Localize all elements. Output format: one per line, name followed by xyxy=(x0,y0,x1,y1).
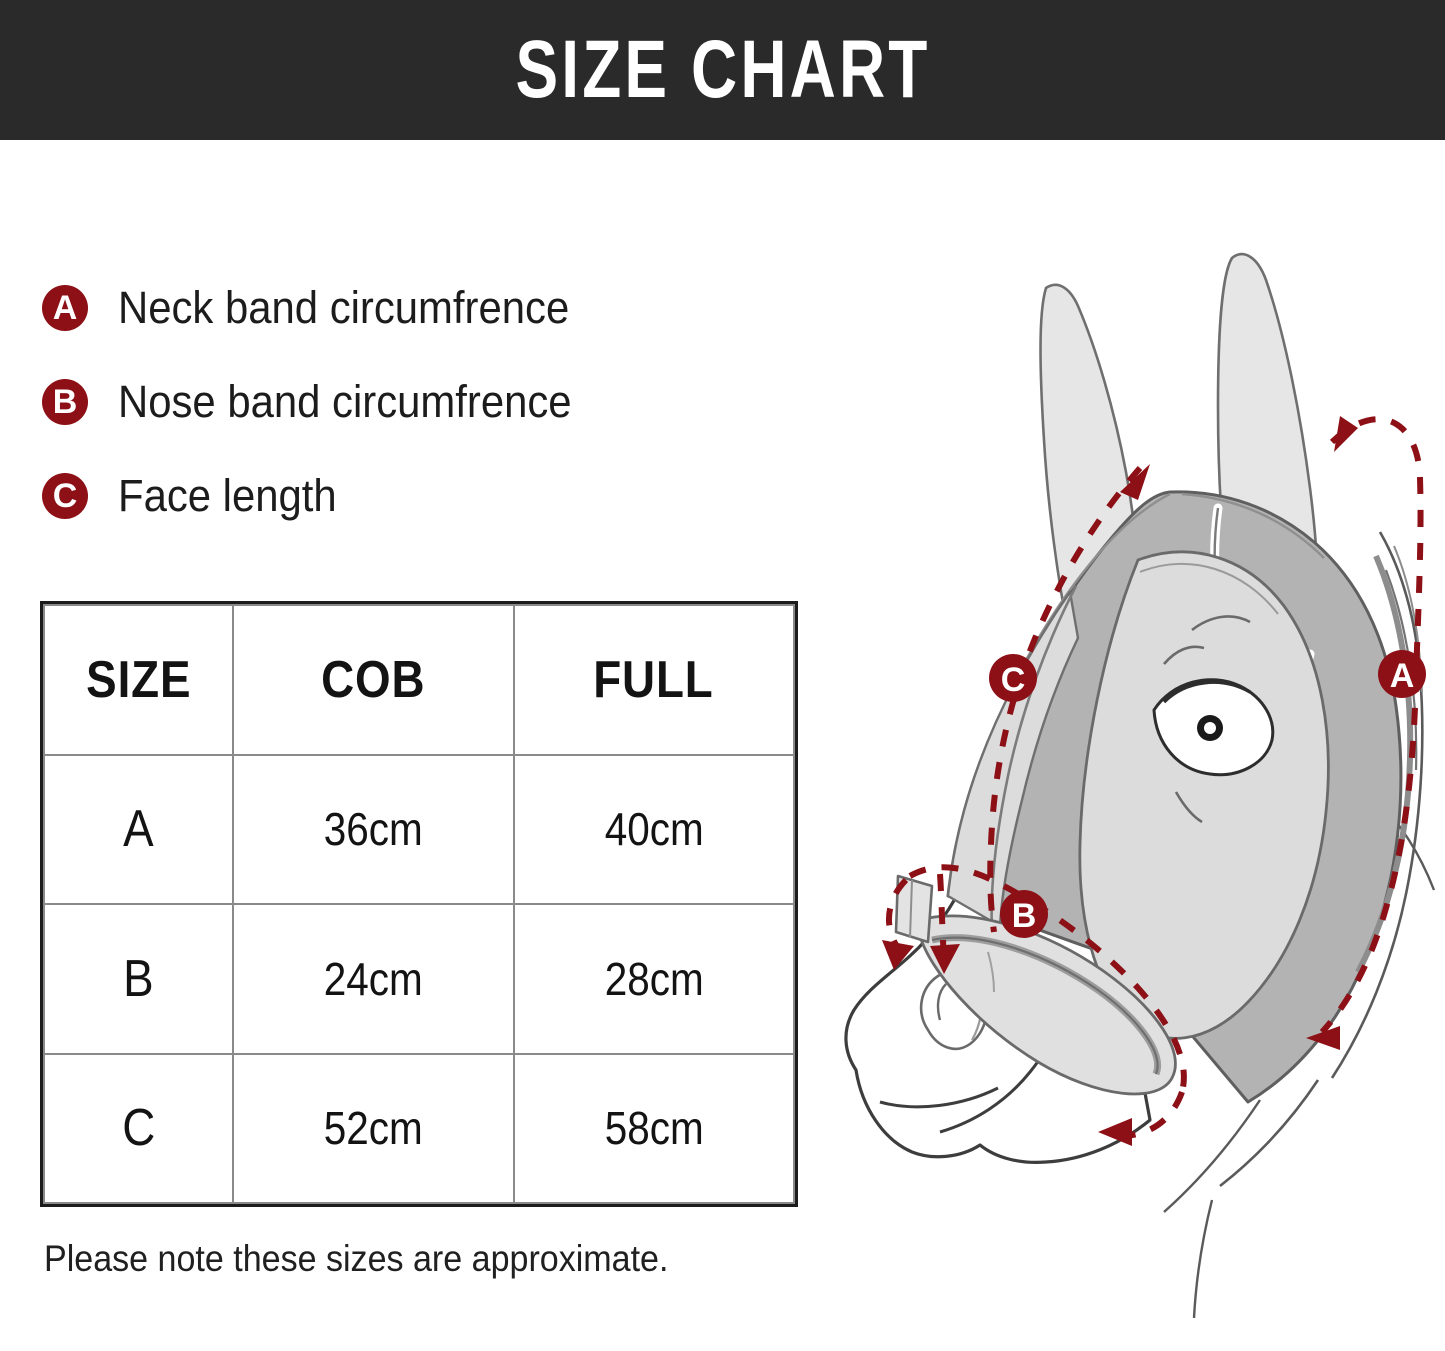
table-row: A 36cm 40cm xyxy=(44,755,794,905)
header-bar: SIZE CHART xyxy=(0,0,1445,140)
row-label-b: B xyxy=(44,904,233,1054)
column-header-full: FULL xyxy=(514,605,795,755)
table-row: C 52cm 58cm xyxy=(44,1054,794,1204)
legend-label-a: Neck band circumfrence xyxy=(118,282,569,334)
cell-c-full: 58cm xyxy=(514,1054,795,1204)
legend-badge-a-icon: A xyxy=(42,285,88,331)
legend-item-a: A Neck band circumfrence xyxy=(42,272,742,344)
legend-badge-c-icon: C xyxy=(42,473,88,519)
footnote-text: Please note these sizes are approximate. xyxy=(44,1238,668,1280)
illustration-badge-c: C xyxy=(989,654,1037,702)
cell-a-full: 40cm xyxy=(514,755,795,905)
horse-fly-mask-illustration: C A B xyxy=(820,240,1445,1340)
table-row: B 24cm 28cm xyxy=(44,904,794,1054)
illustration-badge-a-label: A xyxy=(1390,657,1415,695)
legend-label-b: Nose band circumfrence xyxy=(118,376,572,428)
legend-label-c: Face length xyxy=(118,470,337,522)
legend-badge-b-icon: B xyxy=(42,379,88,425)
cell-a-cob: 36cm xyxy=(233,755,514,905)
page-title: SIZE CHART xyxy=(515,29,930,111)
size-table: SIZE COB FULL A 36cm 40cm B 24cm 28cm C … xyxy=(40,601,798,1207)
cell-c-cob: 52cm xyxy=(233,1054,514,1204)
cell-b-cob: 24cm xyxy=(233,904,514,1054)
legend-item-c: C Face length xyxy=(42,460,742,532)
row-label-a: A xyxy=(44,755,233,905)
legend-item-b: B Nose band circumfrence xyxy=(42,366,742,438)
illustration-badge-b-label: B xyxy=(1012,897,1037,935)
column-header-size: SIZE xyxy=(44,605,233,755)
row-label-c: C xyxy=(44,1054,233,1204)
table-header-row: SIZE COB FULL xyxy=(44,605,794,755)
illustration-badge-a: A xyxy=(1378,650,1426,698)
cell-b-full: 28cm xyxy=(514,904,795,1054)
illustration-badge-c-label: C xyxy=(1001,661,1026,699)
legend: A Neck band circumfrence B Nose band cir… xyxy=(42,272,742,532)
fly-mask-body-icon xyxy=(896,492,1416,1102)
column-header-cob: COB xyxy=(233,605,514,755)
illustration-badge-b: B xyxy=(1000,890,1048,938)
